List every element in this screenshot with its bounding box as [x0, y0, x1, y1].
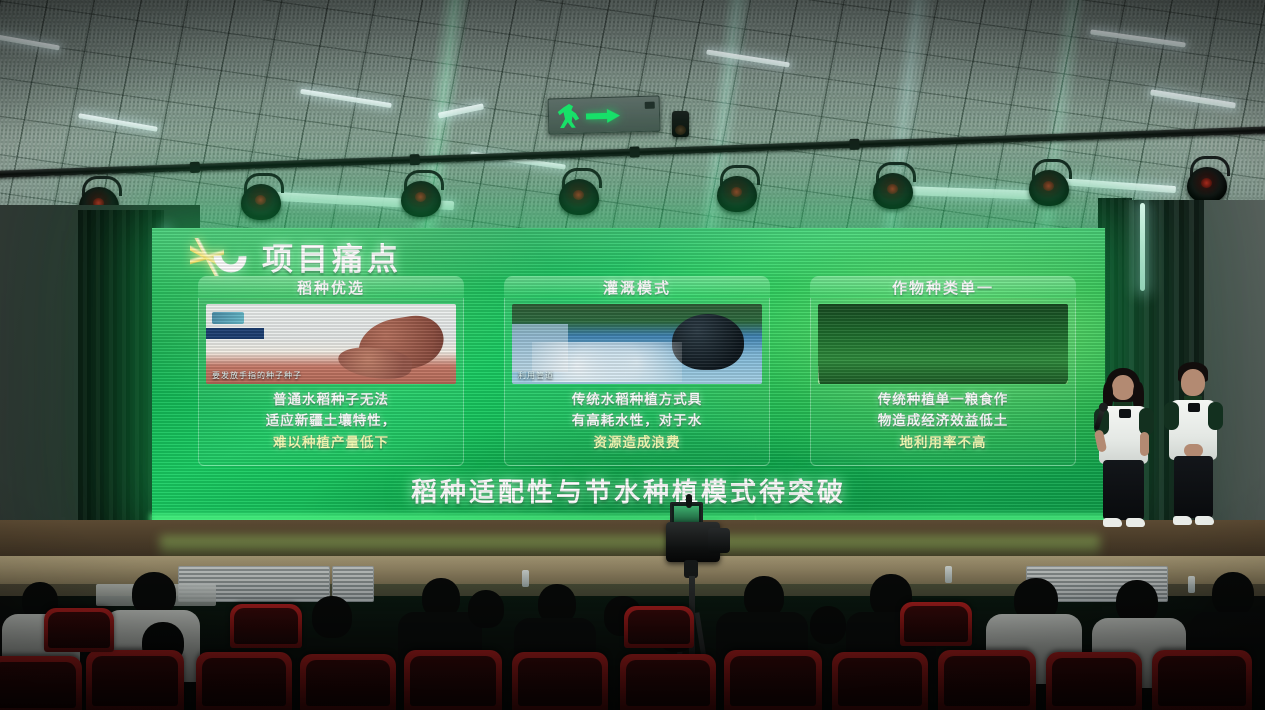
theater-seat — [900, 602, 972, 646]
sleeve — [1139, 408, 1154, 435]
panel-text-line: 适应新疆土壤特性， — [207, 411, 455, 432]
pants — [1174, 456, 1213, 518]
lanyard-badge — [1119, 409, 1131, 418]
audience-head — [1212, 572, 1254, 616]
slide-panel: 灌溉模式 利用管道 传统水稻种植方式具 有高耗水性，对于水 资源造成浪费 — [504, 276, 770, 466]
sleeve — [1164, 402, 1179, 430]
panel-text-line: 地利用率不高 — [819, 433, 1067, 454]
panel-body: 要发放手指的种子种子 普通水稻种子无法 适应新疆土壤特性， 难以种植产量低下 — [198, 298, 464, 466]
slide-title: 项目痛点 — [262, 234, 402, 279]
presenter-left-with-microphone — [1090, 368, 1156, 530]
panel-tab-label: 作物种类单一 — [892, 277, 994, 298]
arrow-right-icon — [586, 108, 620, 122]
stage-light — [400, 170, 442, 218]
stage-light — [872, 162, 914, 210]
camera-lens — [708, 528, 730, 553]
panel-tab-label: 灌溉模式 — [603, 277, 671, 298]
side-light — [1140, 203, 1145, 291]
stage-light — [1186, 156, 1228, 204]
slide-panel: 稻种优选 要发放手指的种子种子 普通水稻种子无法 适应新疆土壤特性， 难以种植产… — [198, 276, 464, 466]
panel-text-line: 传统水稻种植方式具 — [513, 390, 761, 411]
panel-text-line: 传统种植单一粮食作 — [819, 390, 1067, 411]
running-man-exit-icon — [557, 104, 580, 129]
truss-clamp — [849, 139, 859, 150]
stage-floor-reflection — [160, 536, 1100, 558]
theater-seat — [1046, 652, 1142, 710]
audience-head — [810, 606, 846, 644]
theater-seat — [86, 650, 184, 710]
exit-sign-indicator — [645, 102, 655, 109]
theater-seat — [724, 650, 822, 710]
presenter-right — [1162, 362, 1224, 530]
shoe — [1103, 518, 1122, 527]
panel-tab-label: 稻种优选 — [297, 277, 365, 298]
theater-seat — [196, 652, 292, 710]
shoe — [1195, 516, 1214, 525]
exit-sign — [548, 95, 661, 134]
thumbnail-caption: 利用管道 — [518, 370, 554, 381]
theater-seat — [624, 606, 694, 648]
truss-clamp — [410, 154, 420, 165]
sleeve — [1208, 402, 1223, 430]
audience-head — [468, 590, 504, 628]
theater-seat — [938, 650, 1036, 710]
wheat-ear-c-logo — [190, 236, 252, 278]
panel-text-line: 普通水稻种子无法 — [207, 390, 455, 411]
panel-thumbnail-irrigation: 利用管道 — [512, 304, 762, 384]
stage-light — [240, 173, 282, 221]
slide-panel: 作物种类单一 传统种植单一粮食作 物造成经济效益低土 地利用率不高 — [810, 276, 1076, 466]
slide-footer-text: 稻种适配性与节水种植模式待突破 — [411, 478, 846, 508]
truss-clamp — [629, 146, 639, 157]
slide-header: 项目痛点 — [190, 234, 402, 279]
panel-tab: 灌溉模式 — [504, 276, 770, 298]
shoe — [1126, 518, 1145, 527]
audience-head — [312, 596, 352, 638]
pants — [1103, 460, 1144, 520]
auditorium-scene: 项目痛点 稻种优选 要发放手指的种子种子 普通水稻种子无法 适应新疆土壤特性， — [0, 0, 1265, 710]
led-presentation-screen: 项目痛点 稻种优选 要发放手指的种子种子 普通水稻种子无法 适应新疆土壤特性， — [152, 228, 1105, 520]
theater-seat — [0, 656, 82, 710]
stage-light — [716, 165, 758, 213]
theater-seat — [230, 604, 302, 648]
panel-text: 传统种植单一粮食作 物造成经济效益低土 地利用率不高 — [811, 390, 1075, 454]
panel-body: 利用管道 传统水稻种植方式具 有高耗水性，对于水 资源造成浪费 — [504, 298, 770, 466]
panel-text-line: 资源造成浪费 — [513, 433, 761, 454]
panel-tab: 稻种优选 — [198, 276, 464, 298]
panel-text-line: 有高耗水性，对于水 — [513, 411, 761, 432]
theater-seat — [512, 652, 608, 710]
panel-thumbnail-seed-selection: 要发放手指的种子种子 — [206, 304, 456, 384]
theater-seat — [620, 654, 716, 710]
panel-thumbnail-crop-field — [818, 304, 1068, 384]
slide-footer: 稻种适配性与节水种植模式待突破 — [152, 472, 1105, 509]
ceiling-speaker — [672, 111, 689, 137]
slide-panels: 稻种优选 要发放手指的种子种子 普通水稻种子无法 适应新疆土壤特性， 难以种植产… — [198, 276, 1078, 466]
camera-microphone — [686, 494, 692, 508]
panel-text-line: 难以种植产量低下 — [207, 433, 455, 454]
panel-text: 普通水稻种子无法 适应新疆土壤特性， 难以种植产量低下 — [199, 390, 463, 454]
audience-area — [0, 560, 1265, 710]
truss-clamp — [190, 162, 200, 173]
theater-seat — [404, 650, 502, 710]
arm — [1140, 432, 1149, 456]
panel-body: 传统种植单一粮食作 物造成经济效益低土 地利用率不高 — [810, 298, 1076, 466]
stage-light — [558, 168, 600, 216]
face — [1112, 375, 1134, 400]
lanyard-badge — [1188, 403, 1200, 412]
thumbnail-caption: 要发放手指的种子种子 — [212, 370, 302, 381]
stage-light — [1028, 159, 1070, 207]
theater-seat — [300, 654, 396, 710]
shoe — [1173, 516, 1192, 525]
theater-seat — [1152, 650, 1252, 710]
panel-tab: 作物种类单一 — [810, 276, 1076, 298]
face — [1181, 369, 1205, 396]
panel-text: 传统水稻种植方式具 有高耗水性，对于水 资源造成浪费 — [505, 390, 769, 454]
theater-seat — [832, 652, 928, 710]
theater-seat — [44, 608, 114, 652]
panel-text-line: 物造成经济效益低土 — [819, 411, 1067, 432]
